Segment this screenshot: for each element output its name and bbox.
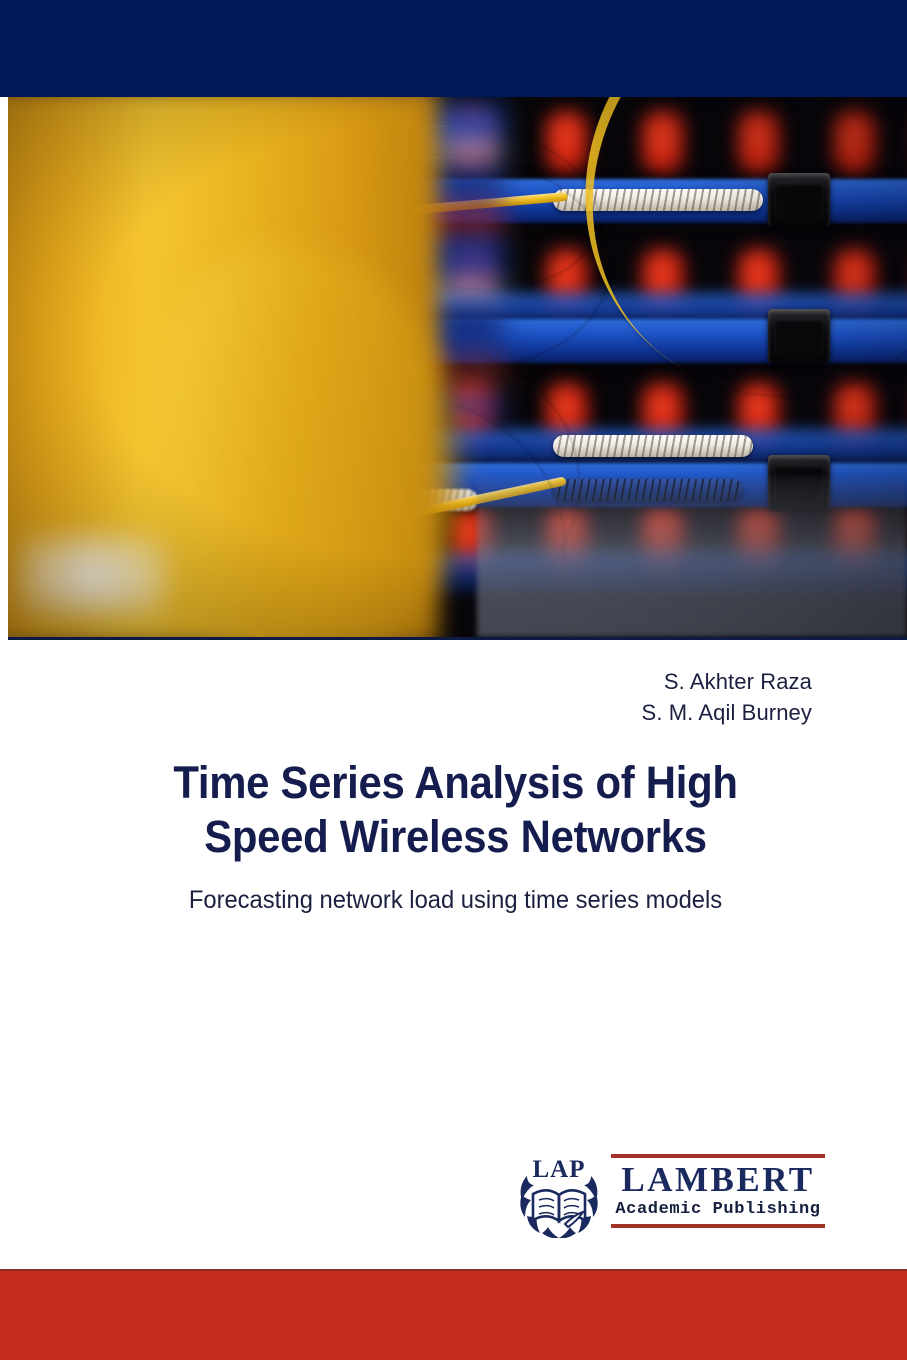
publisher-name: LAMBERT [611,1161,825,1199]
book-title-line-1: Time Series Analysis of High [123,756,788,810]
author-name: S. M. Aqil Burney [52,697,812,728]
book-title-line-2: Speed Wireless Networks [123,810,788,864]
author-list: S. Akhter Raza S. M. Aqil Burney [52,666,812,728]
cover-photo [8,97,907,640]
top-color-band [0,0,907,97]
publisher-logo: LAP LAMBERT Academic Publishing [513,1148,825,1240]
publisher-tagline: Academic Publishing [611,1199,825,1221]
author-name: S. Akhter Raza [52,666,812,697]
svg-text:LAP: LAP [533,1156,586,1183]
cover-photo-image [8,97,907,637]
publisher-name-block: LAMBERT Academic Publishing [611,1154,825,1228]
book-subtitle: Forecasting network load using time seri… [116,884,795,916]
logo-rule-bottom [611,1224,825,1228]
lap-emblem-icon: LAP [513,1150,605,1238]
photo-vignette [8,97,907,637]
logo-rule-top [611,1154,825,1158]
bottom-color-band [0,1269,907,1360]
book-title: Time Series Analysis of High Speed Wirel… [123,756,788,864]
book-cover: S. Akhter Raza S. M. Aqil Burney Time Se… [0,0,907,1360]
